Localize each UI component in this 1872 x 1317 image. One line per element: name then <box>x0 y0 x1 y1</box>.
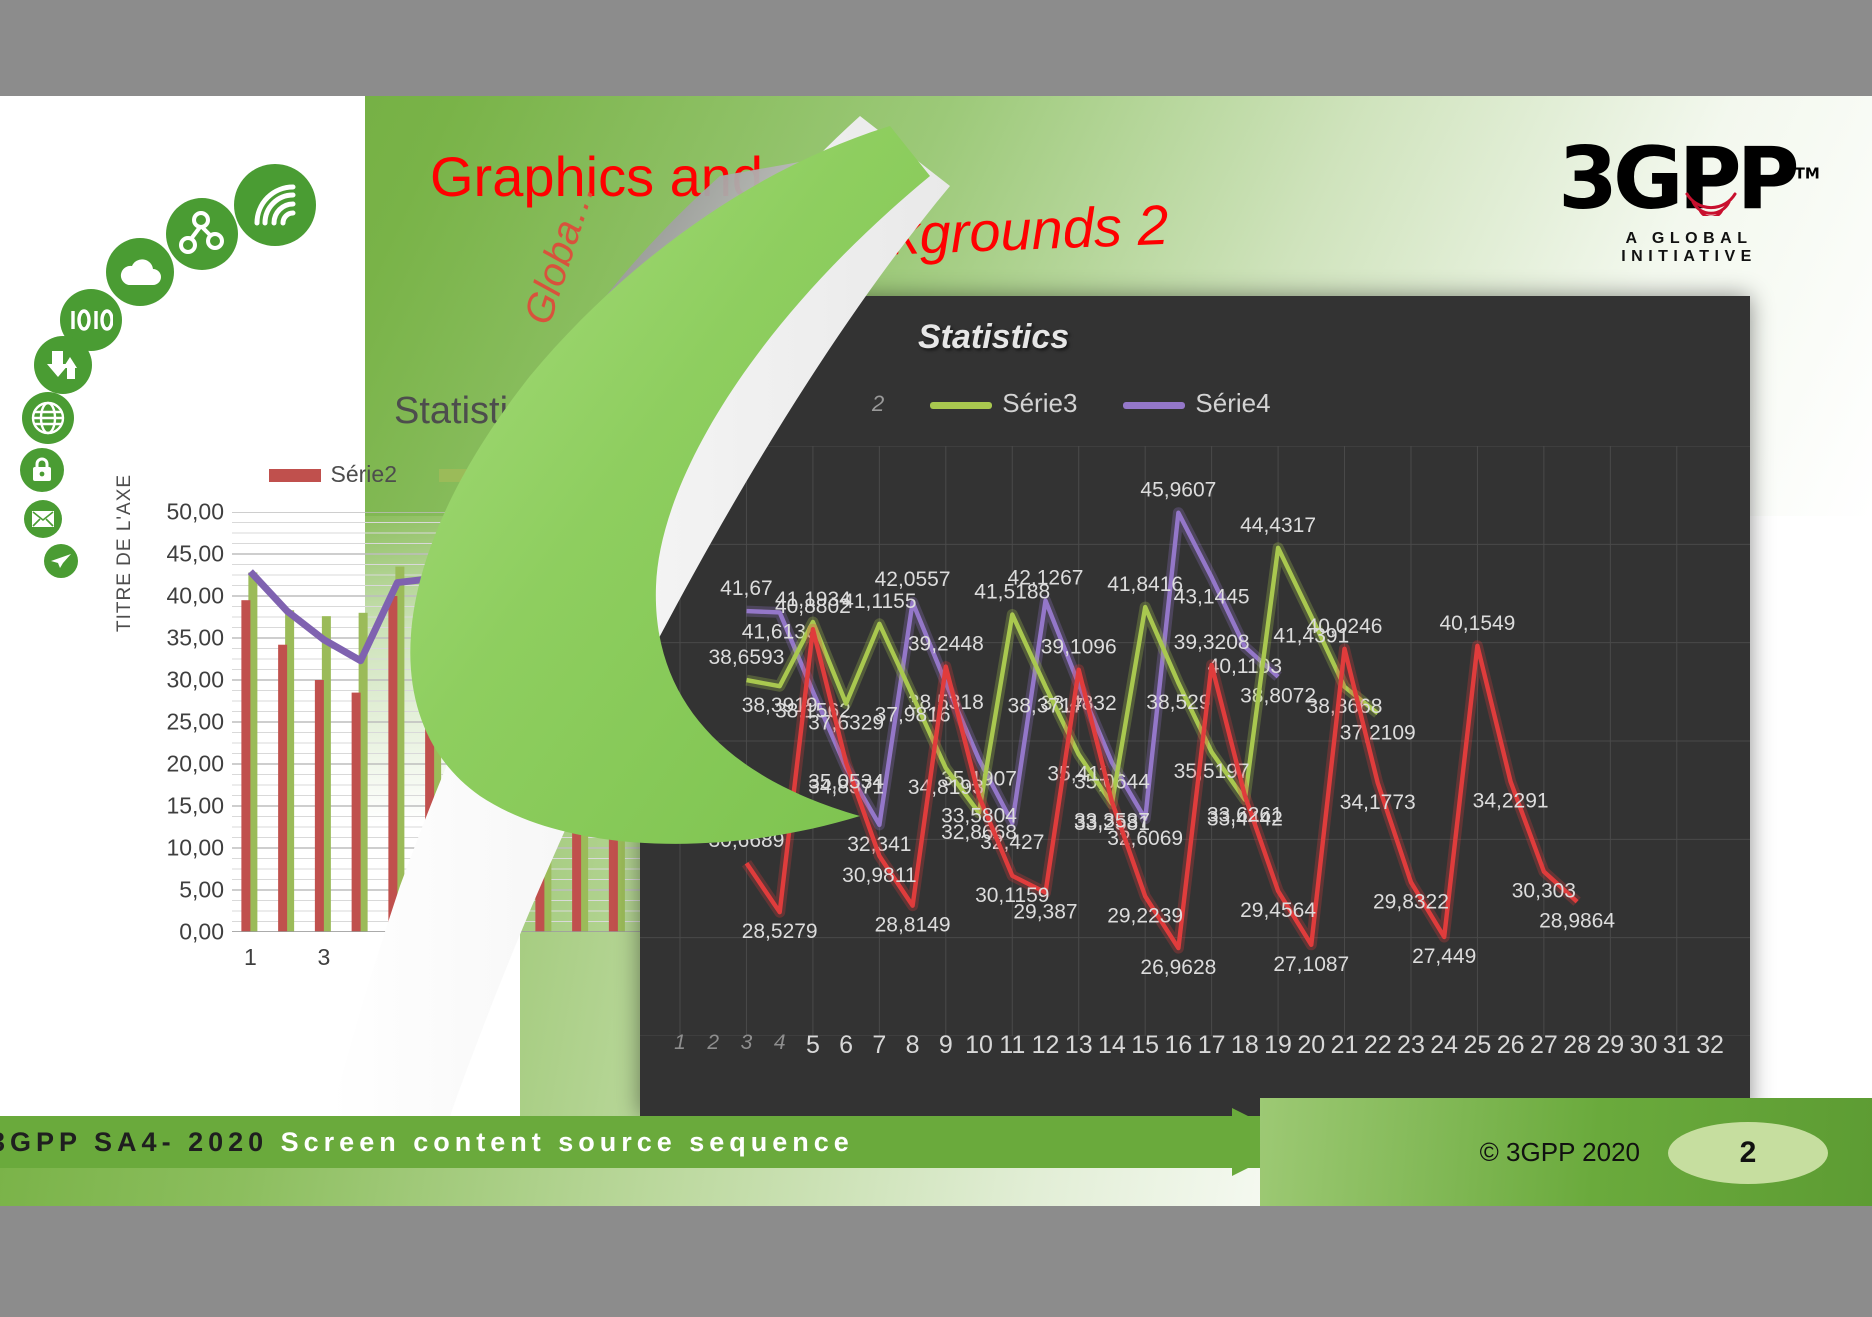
3gpp-logo-text: 3GPP <box>1558 129 1795 229</box>
3gpp-logo-tagline: A GLOBAL INITIATIVE <box>1554 230 1824 266</box>
svg-text:26,9628: 26,9628 <box>1140 956 1216 979</box>
x-tick-label: 5 <box>391 944 404 971</box>
chart-dark-legend: 2 Série3 Série4 <box>872 388 1271 419</box>
x-tick-label: 20 <box>1297 1031 1325 1060</box>
legend-item-serie2: Série2 <box>269 461 397 488</box>
x-tick-label: 17 <box>1198 1031 1226 1060</box>
x-tick-label: 8 <box>906 1031 920 1060</box>
svg-text:29,387: 29,387 <box>1013 901 1077 924</box>
x-tick-label: 25 <box>1464 1031 1492 1060</box>
legend-label-serie3: Série3 <box>501 461 567 487</box>
svg-text:28,8149: 28,8149 <box>875 914 951 937</box>
chart-light-y-axis-title: TITRE DE L'AXE <box>114 474 136 632</box>
lock-icon <box>20 448 64 492</box>
x-tick-label: 3 <box>317 944 330 971</box>
3gpp-logo-mark: 3GPPTM <box>1554 136 1824 222</box>
svg-text:30,303: 30,303 <box>1512 880 1576 903</box>
footer-text: 3GPP SA4- 2020 Screen content source seq… <box>0 1127 854 1158</box>
x-tick-label: 31 <box>1663 1031 1691 1060</box>
x-tick-label: 2 <box>707 1031 719 1055</box>
x-tick-label: 26 <box>1497 1031 1525 1060</box>
x-tick-label: 14 <box>1098 1031 1126 1060</box>
legend-swatch-serie3 <box>930 402 992 409</box>
3gpp-logo-arcs-icon <box>1681 190 1741 216</box>
y-tick-label: 0,00 <box>179 919 224 946</box>
legend-label-serie3: Série3 <box>1002 388 1077 418</box>
x-tick-label: 9 <box>939 1031 953 1060</box>
x-tick-label: 28 <box>1563 1031 1591 1060</box>
legend-swatch-serie4 <box>1123 402 1185 409</box>
x-tick-label: 7 <box>464 944 477 971</box>
legend-item-serie3: Série3 <box>439 461 567 488</box>
svg-text:33,6261: 33,6261 <box>1207 803 1283 826</box>
legend-swatch-serie3 <box>439 469 491 482</box>
svg-text:33,5804: 33,5804 <box>941 804 1017 827</box>
x-tick-label: 16 <box>1164 1031 1192 1060</box>
svg-text:41,1155: 41,1155 <box>842 590 916 613</box>
legend-label-serie2-clipped: 2 <box>872 391 884 417</box>
legend-label-serie4: Série4 <box>1195 388 1270 418</box>
y-tick-label: 5,00 <box>179 877 224 904</box>
svg-text:29,8322: 29,8322 <box>1373 890 1449 913</box>
svg-text:29,2239: 29,2239 <box>1107 904 1183 927</box>
x-tick-label: 30 <box>1630 1031 1658 1060</box>
svg-text:35,0534: 35,0534 <box>808 771 884 794</box>
svg-text:40,0246: 40,0246 <box>1307 615 1383 638</box>
svg-text:39,2448: 39,2448 <box>908 633 984 656</box>
x-tick-label: 21 <box>1331 1031 1359 1060</box>
presentation-slide: Graphics and backgrounds 2 3GPPTM A GLOB… <box>0 96 1872 1206</box>
chart-dark-canvas: 41,6741,613638,156234,837132,34142,05573… <box>640 446 1750 1036</box>
svg-text:40,8802: 40,8802 <box>775 595 851 618</box>
x-tick-label: 1 <box>674 1031 686 1055</box>
svg-text:33,3537: 33,3537 <box>1074 810 1150 833</box>
top-letterbox-band <box>0 0 1872 96</box>
svg-text:30,9811: 30,9811 <box>842 864 916 887</box>
upload-download-icon <box>34 336 92 394</box>
chart-dark-x-ticks: 1234567891011121314151617181920212223242… <box>640 1031 1750 1071</box>
x-tick-label: 22 <box>1364 1031 1392 1060</box>
y-tick-label: 10,00 <box>166 835 224 862</box>
footer-copyright: © 3GPP 2020 <box>1480 1137 1640 1168</box>
x-tick-label: 3 <box>741 1031 753 1055</box>
y-tick-label: 50,00 <box>166 499 224 526</box>
x-tick-label: 1 <box>244 944 257 971</box>
svg-text:27,1087: 27,1087 <box>1273 953 1349 976</box>
x-tick-label: 13 <box>1065 1031 1093 1060</box>
svg-text:28,5279: 28,5279 <box>742 920 818 943</box>
send-paperplane-icon <box>44 544 78 578</box>
globe-icon <box>22 392 74 444</box>
y-tick-label: 30,00 <box>166 667 224 694</box>
x-tick-label: 6 <box>839 1031 853 1060</box>
x-tick-label: 5 <box>806 1031 820 1060</box>
legend-item-serie4: Série4 <box>1123 388 1270 419</box>
cloud-icon <box>106 238 174 306</box>
x-tick-label: 15 <box>1131 1031 1159 1060</box>
svg-text:34,1773: 34,1773 <box>1340 791 1416 814</box>
x-tick-label: 32 <box>1696 1031 1724 1060</box>
svg-text:30,6689: 30,6689 <box>708 829 784 852</box>
svg-text:29,4564: 29,4564 <box>1240 899 1316 922</box>
envelope-icon <box>24 500 62 538</box>
3gpp-logo: 3GPPTM A GLOBAL INITIATIVE <box>1554 136 1824 316</box>
svg-text:37,2109: 37,2109 <box>1340 721 1416 744</box>
x-tick-label: 11 <box>999 1031 1025 1060</box>
chart-light-y-ticks: 0,005,0010,0015,0020,0025,0030,0035,0040… <box>138 512 224 932</box>
svg-text:41,8416: 41,8416 <box>1107 573 1183 596</box>
y-tick-label: 45,00 <box>166 541 224 568</box>
trademark-symbol: TM <box>1795 164 1820 182</box>
legend-swatch-serie2 <box>269 469 321 482</box>
x-tick-label: 18 <box>1231 1031 1259 1060</box>
svg-text:41,67: 41,67 <box>720 577 773 600</box>
chart-dark-statistics: Statistics 2 Série3 Série4 41,6741,61363… <box>640 296 1750 1116</box>
svg-text:43,1445: 43,1445 <box>1174 585 1250 608</box>
x-tick-label: 29 <box>1596 1031 1624 1060</box>
x-tick-label: 12 <box>1032 1031 1060 1060</box>
svg-text:34,2291: 34,2291 <box>1473 790 1549 813</box>
svg-text:38,8072: 38,8072 <box>1240 685 1316 708</box>
x-tick-label: 10 <box>965 1031 993 1060</box>
svg-text:38,6593: 38,6593 <box>708 646 784 669</box>
screenshot-stage: Graphics and backgrounds 2 3GPPTM A GLOB… <box>0 0 1872 1317</box>
x-tick-label: 27 <box>1530 1031 1558 1060</box>
svg-text:41,5188: 41,5188 <box>974 581 1050 604</box>
svg-text:39,3208: 39,3208 <box>1174 631 1250 654</box>
y-tick-label: 20,00 <box>166 751 224 778</box>
svg-text:44,4317: 44,4317 <box>1240 514 1316 537</box>
footer-page-number: 2 <box>1668 1122 1828 1184</box>
svg-text:40,1549: 40,1549 <box>1439 612 1515 635</box>
y-tick-label: 25,00 <box>166 709 224 736</box>
footer-text-light: Screen content source sequence <box>281 1127 854 1157</box>
y-tick-label: 15,00 <box>166 793 224 820</box>
y-tick-label: 35,00 <box>166 625 224 652</box>
x-tick-label: 24 <box>1430 1031 1458 1060</box>
x-tick-label: 23 <box>1397 1031 1425 1060</box>
svg-text:27,449: 27,449 <box>1412 945 1476 968</box>
svg-text:37,6329: 37,6329 <box>808 712 884 735</box>
svg-text:38,3668: 38,3668 <box>1307 695 1383 718</box>
svg-text:39,1096: 39,1096 <box>1041 636 1117 659</box>
legend-label-serie2: Série2 <box>331 461 397 487</box>
legend-item-serie3: Série3 <box>930 388 1077 419</box>
svg-text:42,0557: 42,0557 <box>875 568 951 591</box>
bottom-letterbox-band <box>0 1206 1872 1317</box>
slide-footer: 3GPP SA4- 2020 Screen content source seq… <box>0 1098 1872 1206</box>
wifi-signal-icon <box>234 164 316 246</box>
chart-dark-title: Statistics <box>918 318 1069 357</box>
svg-text:28,9864: 28,9864 <box>1539 910 1615 933</box>
x-tick-label: 7 <box>872 1031 886 1060</box>
share-nodes-icon <box>166 198 238 270</box>
x-tick-label: 4 <box>774 1031 786 1055</box>
y-tick-label: 40,00 <box>166 583 224 610</box>
svg-text:45,9607: 45,9607 <box>1140 479 1216 502</box>
x-tick-label: 19 <box>1264 1031 1292 1060</box>
footer-text-dark: 3GPP SA4- 2020 <box>0 1127 281 1157</box>
